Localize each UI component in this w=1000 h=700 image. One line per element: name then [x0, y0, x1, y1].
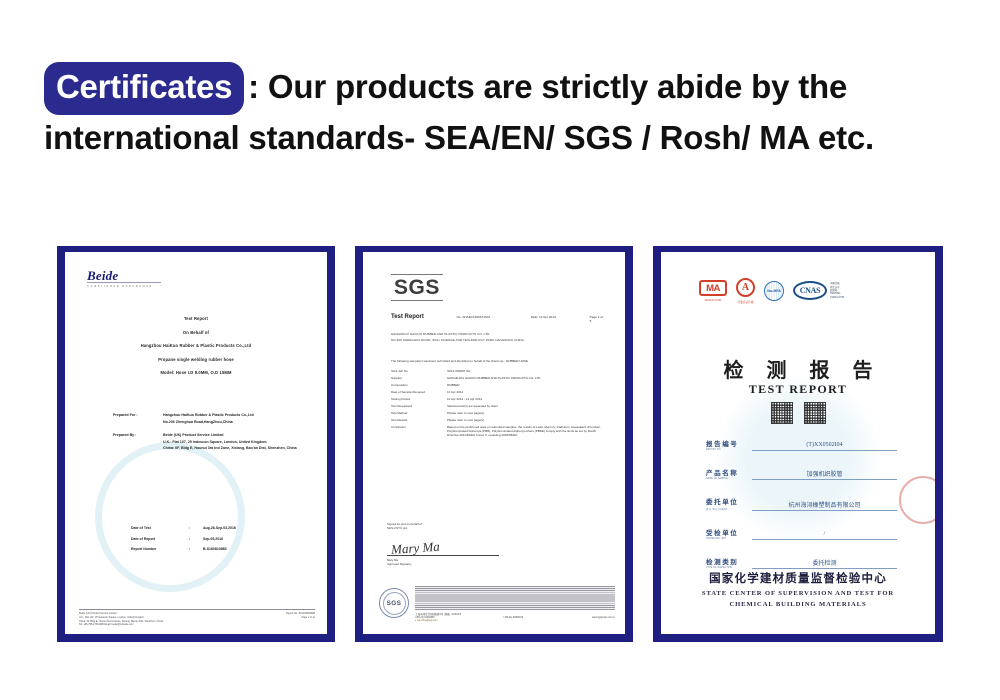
- sgs-job-no-label: SGS Job No.: [391, 369, 447, 373]
- prepared-by-values: Beide (UK) Product Service Limited U.K.:…: [163, 433, 327, 453]
- header-line-1: Certificates: Our products are strictly …: [44, 62, 974, 115]
- prepared-for-value-1: No.206 Zhenghua Road,HangZhou,China: [163, 420, 327, 424]
- cert3-field-row: 产品名称 NAME OF SAMPLE 加强机织胶管: [706, 467, 897, 480]
- sgs-field-row: Test RequestedSelected test(s) as reques…: [391, 404, 607, 408]
- sgs-client-address: HANGZHOU HAIKUO RUBBER AND PLASTIC PRODU…: [391, 332, 524, 343]
- cert1-footer-line-3: Tel: +86-755-27344496 Email: beide@cnbei…: [79, 623, 163, 627]
- sgs-legal-web: www.sgsgroup.com.cn: [592, 617, 615, 619]
- sgs-conclusion-value: Based on the performed tests on submitte…: [447, 425, 607, 437]
- cert3-field-row: 报告编号 REPORT NO. (T)XX0502I04: [706, 438, 897, 451]
- inspected-unit-value: /: [752, 531, 897, 540]
- cma-caption: 计量认证合格: [737, 300, 753, 304]
- report-number-label: Report Number: [131, 547, 189, 551]
- cert3-field-row: 受检单位 INSPECTED UNIT /: [706, 527, 897, 540]
- seal-inner-ring: [383, 592, 406, 615]
- prepared-for-label: Prepared For :: [113, 413, 163, 426]
- prepared-for-value-0: Hangzhou HaiKuo Rubber & Plastic Product…: [163, 413, 327, 417]
- sgs-test-requested-label: Test Requested: [391, 404, 447, 408]
- date-of-report-sep: :: [189, 537, 203, 541]
- report-no-label-cn: 报告编号: [706, 438, 752, 448]
- cert3-issuer-cn: 国家化学建材质量监督检验中心: [661, 570, 935, 586]
- sgs-date-received-label: Date of Sample Received: [391, 390, 447, 394]
- prepared-by-value-1: U.K.: Flat 107, 25 Indescon Square, Lond…: [163, 440, 327, 444]
- inspected-unit-label-cn: 受检单位: [706, 527, 752, 537]
- cnas-icon: CNAS: [793, 281, 827, 300]
- sgs-legal-footer: 上海市徐汇区格轮路3号 邮编: 200233 t (86-21) 6140255…: [415, 586, 615, 622]
- cert1-footer-page: Page 1 of 11: [286, 616, 315, 620]
- prepared-by-value-0: Beide (UK) Product Service Limited: [163, 433, 327, 437]
- sgs-supplier-value: HANGZHOU HAIKUO RUBBER AND PLASTIC PRODU…: [447, 376, 607, 380]
- cert3-issuer-en-2: CHEMICAL BUILDING MATERIALS: [661, 601, 935, 608]
- report-no-label-en: REPORT NO.: [706, 449, 752, 451]
- sgs-lead-text: The following sample(s) was/were submitt…: [391, 359, 605, 363]
- ilac-mra-icon: ilac-MRA: [764, 281, 784, 301]
- sgs-legal-tel: t (86-21) 61402553: [415, 617, 435, 619]
- ma-logo-wrap: MA 1600(21)0091: [699, 280, 727, 302]
- client-label-cn: 委托单位: [706, 496, 752, 506]
- cert3-title-cn: 检 测 报 告: [661, 354, 935, 383]
- cnas-caption: 中国合格 评定认可 实验室 TESTING CNAS L0745: [830, 282, 844, 299]
- report-number-row: Report Number : B-S160810885: [131, 547, 236, 551]
- certificate-3-document[interactable]: MA 1600(21)0091 A 计量认证合格 ilac-MRA CNAS 中…: [661, 252, 935, 634]
- sgs-field-row: SGS Job No.SP14-006687 SH: [391, 369, 607, 373]
- qr-code-icon: [771, 402, 793, 424]
- certificate-2-document[interactable]: SGS Test Report No. SHAEC1405671601 Date…: [363, 252, 625, 634]
- sgs-legal-cn: 上海市徐汇区格轮路3号 邮编: 200233: [415, 612, 615, 616]
- cert1-prepared-block: Prepared For : Hangzhou HaiKuo Rubber & …: [113, 413, 327, 460]
- sgs-report-title: Test Report: [391, 314, 457, 320]
- client-label-en: 委 托 单 位 CLIENT: [706, 507, 752, 511]
- sgs-test-requested-value: Selected test(s) as requested by client: [447, 404, 607, 408]
- client-value: 杭州海浔橡塑制品有限公司: [752, 500, 897, 512]
- report-number-sep: :: [189, 547, 203, 551]
- report-no-label: 报告编号 REPORT NO.: [706, 438, 752, 451]
- certificate-1-document[interactable]: Beide COMPLIANCE ASSURANCE Test Report O…: [65, 252, 327, 634]
- date-of-report-row: Date of Report : Sep.05,2016: [131, 537, 236, 541]
- sgs-signature-block: Signed for and on behalf of SGS-CSTC Ltd…: [387, 522, 507, 566]
- date-of-test-value: Aug.26-Sep.03,2016: [203, 526, 236, 530]
- sgs-signatory-role: Approved Signatory: [387, 562, 507, 566]
- inspection-type-label-en: TYPE OF INSPECTION: [706, 567, 752, 569]
- header-line-2: international standards- SEA/EN/ SGS / R…: [44, 115, 974, 162]
- client-label: 委托单位 委 托 单 位 CLIENT: [706, 496, 752, 511]
- sgs-signed-for: Signed for and on behalf of SGS-CSTC Ltd…: [387, 522, 507, 531]
- report-number-value: B-S160810885: [203, 547, 227, 551]
- sgs-field-row: CompositionRUBBER: [391, 383, 607, 387]
- cert3-issuer-en-1: STATE CENTER OF SUPERVISION AND TEST FOR: [661, 590, 935, 597]
- sample-name-value: 加强机织胶管: [752, 469, 897, 481]
- cert3-qr-codes: [661, 402, 935, 424]
- cert1-title-1: On Behalf of: [65, 330, 327, 335]
- sgs-report-date: Date: 14 Apr 2014: [531, 315, 590, 319]
- sgs-field-row: Testing Period10 Apr 2014 - 14 Apr 2014: [391, 397, 607, 401]
- prepared-for-values: Hangzhou HaiKuo Rubber & Plastic Product…: [163, 413, 327, 426]
- cma-logo-wrap: A 计量认证合格: [736, 278, 755, 304]
- sample-name-label-en: NAME OF SAMPLE: [706, 478, 752, 480]
- cnas-logo-wrap: CNAS 中国合格 评定认可 实验室 TESTING CNAS L0745: [793, 281, 844, 300]
- header-line-1-text: Our products are strictly abide by the: [268, 68, 847, 105]
- sgs-field-row: Test MethodPlease refer to next page(s).: [391, 411, 607, 415]
- date-of-test-row: Date of Test : Aug.26-Sep.03,2016: [131, 526, 236, 530]
- sgs-header-row: Test Report No. SHAEC1405671601 Date: 14…: [391, 314, 603, 323]
- cert1-title-2: Hangzhou HaiKuo Rubber & Plastic Product…: [65, 343, 327, 348]
- sgs-field-row: Test ResultsPlease refer to next page(s)…: [391, 418, 607, 422]
- date-of-report-value: Sep.05,2016: [203, 537, 223, 541]
- cert1-footer: Beide (UK) Product Service Limited U.K.:…: [79, 609, 315, 627]
- sample-name-label-cn: 产品名称: [706, 467, 752, 477]
- sgs-composition-label: Composition: [391, 383, 447, 387]
- sgs-legal-fax: f (86-21) 64953679: [504, 617, 524, 619]
- beide-logo-tagline: COMPLIANCE ASSURANCE: [87, 282, 161, 288]
- sgs-test-method-value: Please refer to next page(s).: [447, 411, 607, 415]
- sgs-report-no: No. SHAEC1405671601: [457, 315, 531, 319]
- sgs-testing-period-value: 10 Apr 2014 - 14 Apr 2014: [447, 397, 607, 401]
- ilac-mra-label: ilac-MRA: [767, 289, 781, 293]
- sample-name-label: 产品名称 NAME OF SAMPLE: [706, 467, 752, 480]
- certificate-1-frame: Beide COMPLIANCE ASSURANCE Test Report O…: [57, 246, 335, 642]
- certificate-3-frame: MA 1600(21)0091 A 计量认证合格 ilac-MRA CNAS 中…: [653, 246, 943, 642]
- sgs-legal-contacts: t (86-21) 61402553 f (86-21) 64953679 ww…: [415, 617, 615, 619]
- cert1-title-4: Model: Hose I.D 8.0MM, O.D 15MM: [65, 370, 327, 375]
- cnas-line-4: CNAS L0745: [830, 296, 844, 299]
- sgs-composition-value: RUBBER: [447, 383, 607, 387]
- date-of-test-sep: :: [189, 526, 203, 530]
- cert3-field-row: 检测类别 TYPE OF INSPECTION 委托检测: [706, 556, 897, 569]
- certificate-2-frame: SGS Test Report No. SHAEC1405671601 Date…: [355, 246, 633, 642]
- cma-icon: A: [736, 278, 755, 297]
- sgs-signed-for-line-1: SGS-CSTC Ltd.: [387, 526, 507, 530]
- prepared-by-label: Prepared By :: [113, 433, 163, 453]
- cert1-title-0: Test Report: [65, 316, 327, 321]
- page-header: Certificates: Our products are strictly …: [44, 62, 974, 162]
- cert1-footer-address: Beide (UK) Product Service Limited U.K.:…: [79, 612, 163, 627]
- sgs-testing-period-label: Testing Period: [391, 397, 447, 401]
- inspected-unit-label: 受检单位 INSPECTED UNIT: [706, 527, 752, 540]
- sgs-supplier-label: Supplier: [391, 376, 447, 380]
- sgs-signatory: Mary Ma Approved Signatory: [387, 558, 507, 567]
- cert1-footer-meta: Report No.: B-S160810885 Page 1 of 11: [286, 612, 315, 627]
- cert3-fields: 报告编号 REPORT NO. (T)XX0502I04 产品名称 NAME O…: [706, 438, 897, 585]
- sgs-test-results-label: Test Results: [391, 418, 447, 422]
- cert3-footer: 国家化学建材质量监督检验中心 STATE CENTER OF SUPERVISI…: [661, 570, 935, 608]
- sgs-legal-paragraph: [415, 586, 615, 610]
- prepared-for-row: Prepared For : Hangzhou HaiKuo Rubber & …: [113, 413, 327, 426]
- cert3-accreditation-logos: MA 1600(21)0091 A 计量认证合格 ilac-MRA CNAS 中…: [699, 278, 844, 304]
- cert3-field-row: 委托单位 委 托 单 位 CLIENT 杭州海浔橡塑制品有限公司: [706, 496, 897, 511]
- sgs-report-page: Page 1 of 5: [590, 315, 603, 323]
- certificates-badge: Certificates: [44, 62, 244, 115]
- sgs-legal-email: e sgs.china@sgs.com: [415, 620, 615, 622]
- sgs-date-received-value: 10 Apr 2014: [447, 390, 607, 394]
- inspection-type-label-cn: 检测类别: [706, 556, 752, 566]
- sgs-conclusion-label: Conclusion: [391, 425, 447, 437]
- ma-icon: MA: [699, 280, 727, 296]
- sgs-job-no-value: SP14-006687 SH: [447, 369, 607, 373]
- cert1-title-block: Test Report On Behalf of Hangzhou HaiKuo…: [65, 316, 327, 384]
- sgs-test-results-value: Please refer to next page(s).: [447, 418, 607, 422]
- sgs-address-line-1: NO.206 ZHENGHUA ROAD, XIHU SCIENCE AND T…: [391, 338, 524, 344]
- sgs-field-row: Date of Sample Received10 Apr 2014: [391, 390, 607, 394]
- inspected-unit-label-en: INSPECTED UNIT: [706, 538, 752, 540]
- header-colon: :: [248, 68, 259, 105]
- prepared-by-value-2: China: 6F, Bldg E, Hounui 3rd Ind Zone, …: [163, 446, 327, 450]
- sgs-field-row: SupplierHANGZHOU HAIKUO RUBBER AND PLAST…: [391, 376, 607, 380]
- inspection-type-value: 委托检测: [752, 558, 897, 570]
- certificates-page: Certificates: Our products are strictly …: [0, 0, 1000, 700]
- sgs-logo: SGS: [391, 274, 443, 301]
- cert3-title-en: TEST REPORT: [661, 382, 935, 397]
- sgs-test-method-label: Test Method: [391, 411, 447, 415]
- ma-number: 1600(21)0091: [704, 299, 721, 302]
- date-of-report-label: Date of Report: [131, 537, 189, 541]
- prepared-by-row: Prepared By : Beide (UK) Product Service…: [113, 433, 327, 453]
- sgs-field-row: ConclusionBased on the performed tests o…: [391, 425, 607, 437]
- cert1-title-3: Propane single welding rubber hose: [65, 357, 327, 362]
- sgs-seal-icon: SGS: [379, 588, 409, 618]
- inspection-type-label: 检测类别 TYPE OF INSPECTION: [706, 556, 752, 569]
- date-of-test-label: Date of Test: [131, 526, 189, 530]
- sgs-fields-table: SGS Job No.SP14-006687 SH SupplierHANGZH…: [391, 369, 607, 441]
- cert1-dates-block: Date of Test : Aug.26-Sep.03,2016 Date o…: [131, 526, 236, 558]
- report-no-value: (T)XX0502I04: [752, 442, 897, 451]
- qr-code-icon: [804, 402, 826, 424]
